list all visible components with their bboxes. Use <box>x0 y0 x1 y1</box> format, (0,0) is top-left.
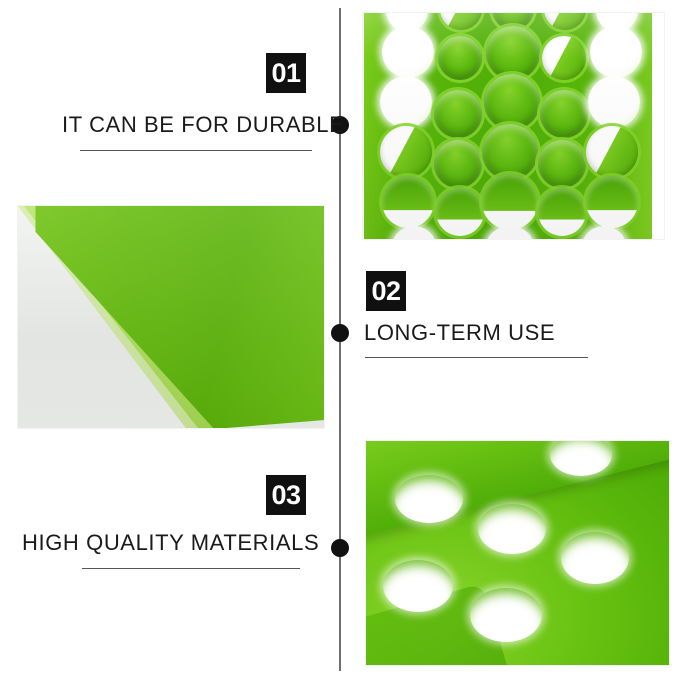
feature-rule-02 <box>365 357 588 358</box>
well <box>542 36 586 80</box>
rack-hole <box>470 588 542 642</box>
well <box>436 188 484 236</box>
feature-number-badge-03: 03 <box>266 475 306 515</box>
well <box>482 174 538 230</box>
well <box>434 90 482 138</box>
product-photo-rack-grid <box>362 12 665 240</box>
well <box>586 126 638 178</box>
well <box>590 26 642 78</box>
divider-dot-3 <box>331 539 349 557</box>
well <box>382 176 434 228</box>
well <box>440 12 482 30</box>
well <box>434 140 482 188</box>
well <box>538 188 586 236</box>
infographic-canvas: 01 IT CAN BE FOR DURABLE 02 LONG-TERM US… <box>0 0 679 679</box>
well <box>380 126 432 178</box>
well <box>586 176 638 228</box>
well <box>482 124 538 180</box>
feature-rule-03 <box>82 568 300 569</box>
well <box>492 12 534 30</box>
rack-hole <box>395 475 463 523</box>
rack-hole <box>383 560 453 612</box>
well <box>596 12 638 32</box>
feature-rule-01 <box>80 150 312 151</box>
well <box>544 12 586 30</box>
rack-body <box>364 12 652 240</box>
feature-title-01: IT CAN BE FOR DURABLE <box>62 112 344 138</box>
product-photo-rack-closeup <box>365 440 670 666</box>
feature-title-03: HIGH QUALITY MATERIALS <box>22 530 319 556</box>
feature-title-02: LONG-TERM USE <box>364 320 555 346</box>
well <box>486 26 540 80</box>
well <box>438 36 482 80</box>
feature-number-badge-01: 01 <box>266 53 306 93</box>
well <box>392 226 436 240</box>
feature-number-badge-02: 02 <box>366 271 406 311</box>
well <box>386 12 428 32</box>
sheet-shading <box>17 205 325 429</box>
well <box>486 226 534 240</box>
well <box>540 90 588 138</box>
well <box>382 26 434 78</box>
well <box>484 74 540 130</box>
well <box>538 140 586 188</box>
well <box>380 76 432 128</box>
rack-hole <box>478 504 546 554</box>
well <box>582 226 626 240</box>
well <box>588 76 640 128</box>
divider-dot-2 <box>331 324 349 342</box>
product-photo-silicone-sheet <box>17 205 325 429</box>
rack-hole <box>561 532 629 584</box>
